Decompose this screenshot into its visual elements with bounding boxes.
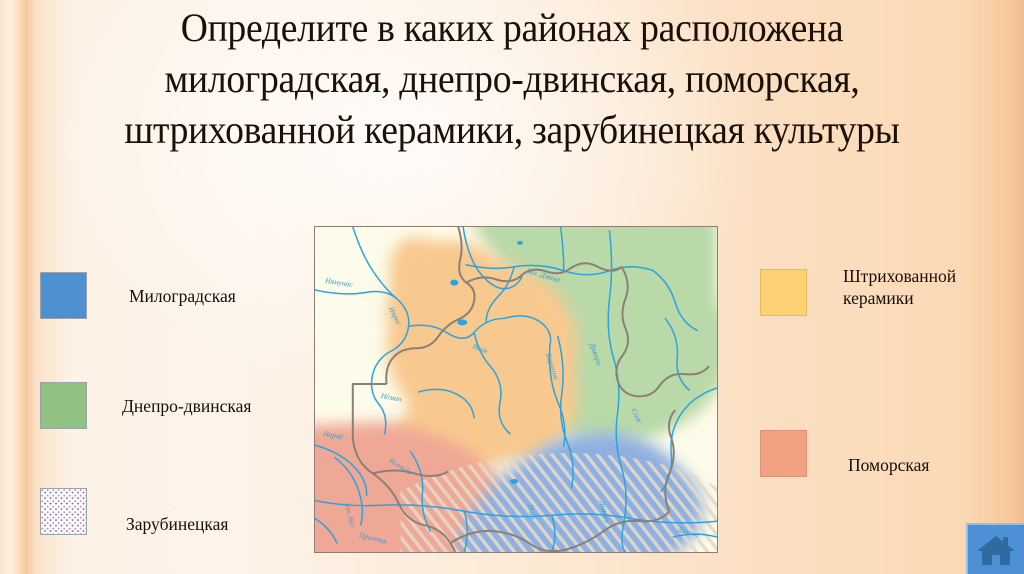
legend-label-shtrihovannoy-keramiki: Штрихованной керамики — [843, 265, 993, 309]
legend-item-dnepro-dvinskaya[interactable]: Днепро-двинская — [40, 382, 251, 429]
slide-root: Определите в каких районах расположена м… — [0, 0, 1024, 574]
legend-swatch-zarubinetskaya — [40, 488, 87, 535]
map-svg: Нямунас Нярис Вілія Зах. Дзвіна Дняпро Б… — [315, 227, 717, 552]
legend-item-shtrihovannoy-keramiki[interactable]: Штрихованной керамики — [760, 269, 993, 316]
legend-label-pomorskaya: Поморская — [848, 454, 929, 476]
legend-item-zarubinetskaya[interactable]: Зарубинецкая — [40, 487, 228, 535]
page-title: Определите в каких районах расположена м… — [89, 2, 935, 155]
legend-label-milogradskaya: Милоградская — [129, 285, 236, 307]
legend-swatch-milogradskaya — [40, 272, 87, 319]
home-icon — [976, 533, 1016, 567]
legend-item-pomorskaya[interactable]: Поморская — [760, 430, 929, 477]
home-button[interactable] — [966, 523, 1024, 574]
legend-item-milogradskaya[interactable]: Милоградская — [40, 272, 236, 319]
legend-label-zarubinetskaya: Зарубинецкая — [126, 513, 228, 535]
legend-swatch-dnepro-dvinskaya — [40, 382, 87, 429]
legend-swatch-pomorskaya — [760, 430, 807, 477]
legend-swatch-shtrihovannoy-keramiki — [760, 269, 807, 316]
legend-label-dnepro-dvinskaya: Днепро-двинская — [122, 395, 251, 417]
archaeological-cultures-map[interactable]: Нямунас Нярис Вілія Зах. Дзвіна Дняпро Б… — [314, 226, 718, 553]
